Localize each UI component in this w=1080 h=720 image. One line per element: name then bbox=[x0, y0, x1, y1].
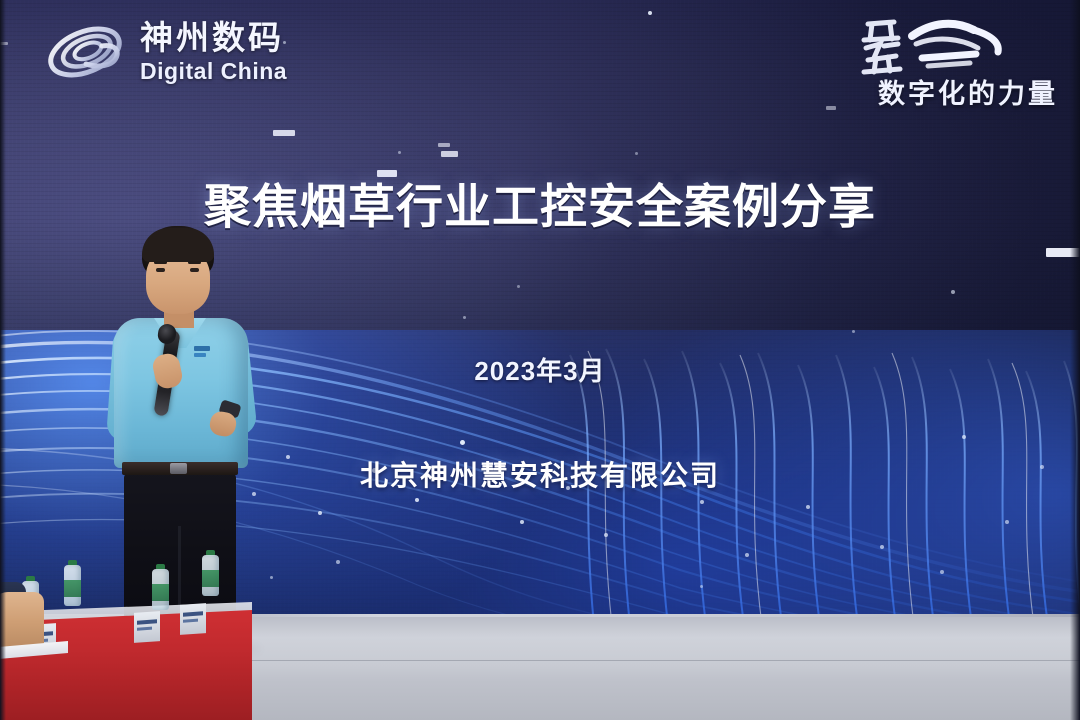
water-bottle bbox=[152, 564, 169, 610]
speaker-hair-front bbox=[142, 228, 214, 262]
brand-text: 神州数码 Digital China bbox=[140, 21, 287, 83]
speaker-person bbox=[96, 226, 266, 616]
slide-title: 聚焦烟草行业工控安全案例分享 bbox=[0, 183, 1080, 232]
seated-person-hands bbox=[0, 592, 44, 650]
water-bottle bbox=[64, 560, 81, 606]
event-calligraphy bbox=[843, 14, 1058, 80]
shirt-badge-icon bbox=[193, 344, 212, 361]
conference-stage-photo: 聚焦烟草行业工控安全案例分享 2023年3月 北京神州慧安科技有限公司 bbox=[0, 0, 1080, 720]
brand-name-en: Digital China bbox=[140, 60, 287, 83]
right-wall-shadow bbox=[1070, 0, 1080, 720]
speaker-eyebrow-left bbox=[154, 261, 167, 264]
swirl-logo-icon bbox=[42, 16, 128, 88]
name-placard bbox=[134, 611, 160, 643]
speaker-eye-left bbox=[156, 268, 165, 272]
judges-table bbox=[0, 592, 262, 720]
event-logo: 数字化的力量 bbox=[843, 14, 1058, 111]
speaker-eye-right bbox=[190, 268, 199, 272]
speaker-belt-buckle bbox=[170, 463, 187, 474]
speaker-eyebrow-right bbox=[188, 261, 201, 264]
left-wall-shadow bbox=[0, 0, 6, 720]
brand-name-cn: 神州数码 bbox=[140, 21, 287, 54]
water-bottle bbox=[202, 550, 219, 596]
digital-china-logo: 神州数码 Digital China bbox=[42, 16, 287, 88]
name-placard bbox=[180, 603, 206, 635]
